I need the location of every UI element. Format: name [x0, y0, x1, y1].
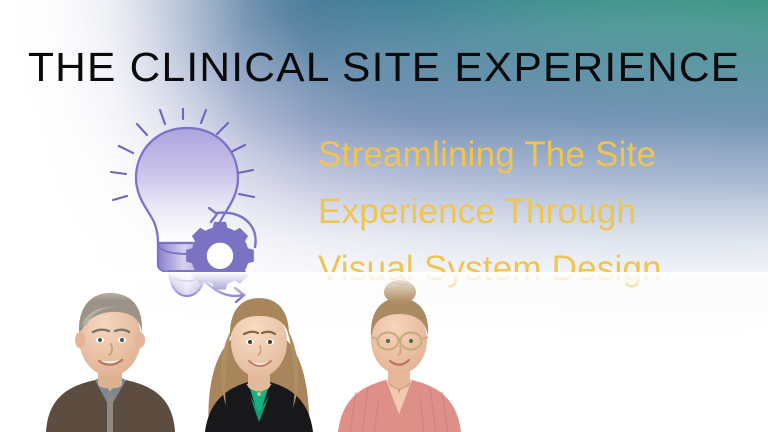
subtitle-line-2: Experience Through	[318, 183, 738, 240]
subtitle-line-1: Streamlining The Site	[318, 126, 738, 183]
presentation-slide: THE CLINICAL SITE EXPERIENCE Streamlinin…	[0, 0, 768, 432]
team-photo-row	[0, 272, 768, 432]
slide-title: THE CLINICAL SITE EXPERIENCE	[28, 42, 768, 92]
